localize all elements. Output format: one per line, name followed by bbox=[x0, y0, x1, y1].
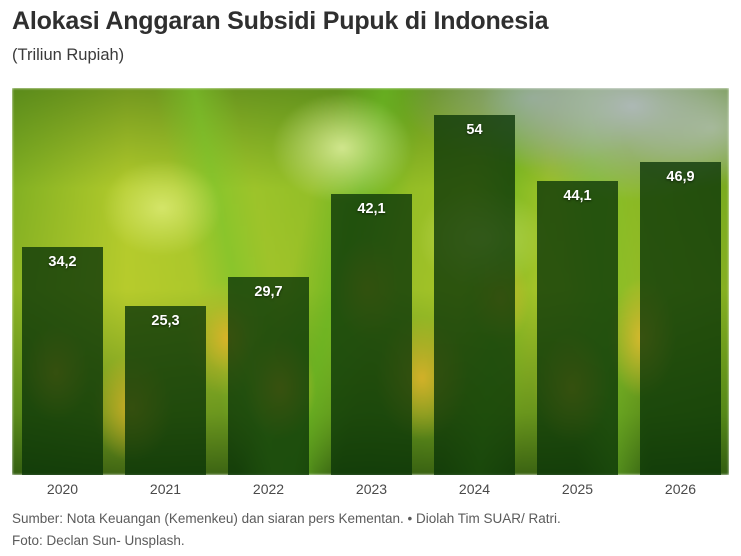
x-axis-tick-2026: 2026 bbox=[640, 481, 721, 497]
bar-2020: 34,2 bbox=[22, 247, 103, 475]
photo-credit: Foto: Declan Sun- Unsplash. bbox=[12, 530, 732, 552]
bar-2025: 44,1 bbox=[537, 181, 618, 475]
bar-2022: 29,7 bbox=[228, 277, 309, 475]
bar-2021: 25,3 bbox=[125, 306, 206, 475]
x-axis-tick-2021: 2021 bbox=[125, 481, 206, 497]
bar-value-label-2020: 34,2 bbox=[22, 254, 103, 270]
bar-series: 34,225,329,742,15444,146,9 bbox=[12, 88, 729, 475]
x-axis-tick-2023: 2023 bbox=[331, 481, 412, 497]
bar-value-label-2024: 54 bbox=[434, 122, 515, 138]
page-subtitle: (Triliun Rupiah) bbox=[12, 46, 124, 65]
bar-value-label-2021: 25,3 bbox=[125, 313, 206, 329]
infographic-root: Alokasi Anggaran Subsidi Pupuk di Indone… bbox=[0, 0, 741, 556]
bar-value-label-2023: 42,1 bbox=[331, 201, 412, 217]
bar-2026: 46,9 bbox=[640, 162, 721, 475]
x-axis: 2020202120222023202420252026 bbox=[12, 475, 729, 501]
footer: Sumber: Nota Keuangan (Kemenkeu) dan sia… bbox=[12, 508, 732, 552]
x-axis-tick-2025: 2025 bbox=[537, 481, 618, 497]
bar-2023: 42,1 bbox=[331, 194, 412, 475]
x-axis-tick-2024: 2024 bbox=[434, 481, 515, 497]
bar-2024: 54 bbox=[434, 115, 515, 475]
x-axis-tick-2022: 2022 bbox=[228, 481, 309, 497]
x-axis-tick-2020: 2020 bbox=[22, 481, 103, 497]
source-note: Sumber: Nota Keuangan (Kemenkeu) dan sia… bbox=[12, 508, 732, 530]
bar-value-label-2025: 44,1 bbox=[537, 188, 618, 204]
bar-value-label-2026: 46,9 bbox=[640, 169, 721, 185]
page-title: Alokasi Anggaran Subsidi Pupuk di Indone… bbox=[12, 7, 548, 36]
chart-panel: 34,225,329,742,15444,146,9 bbox=[12, 88, 729, 475]
bar-value-label-2022: 29,7 bbox=[228, 284, 309, 300]
